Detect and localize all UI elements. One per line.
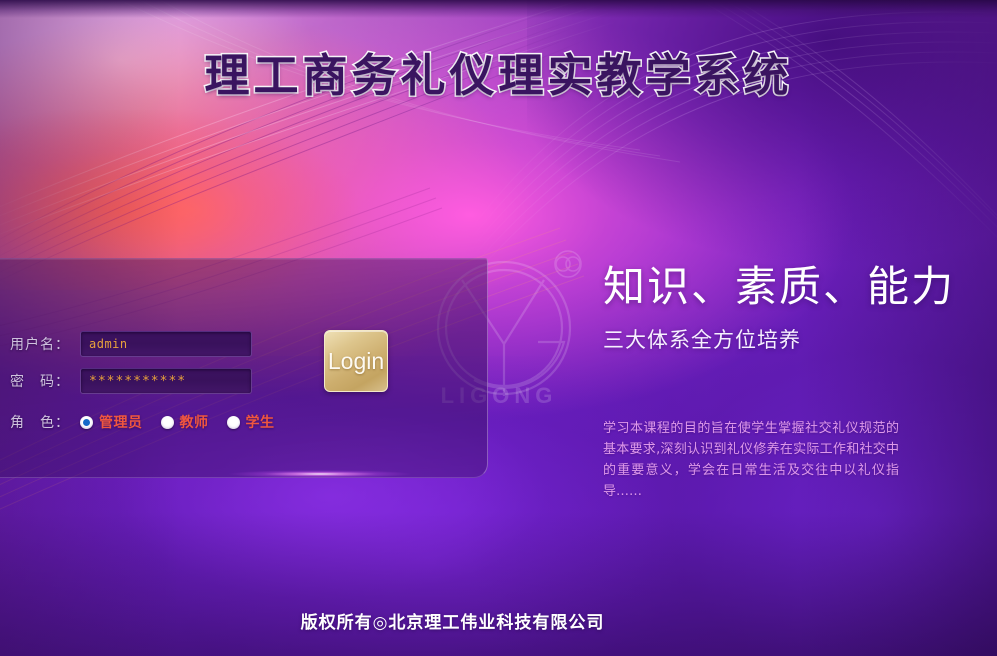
- promo-description: 学习本课程的目的旨在使学生掌握社交礼仪规范的基本要求,深刻认识到礼仪修养在实际工…: [603, 418, 899, 502]
- username-row: 用户名：: [0, 331, 252, 357]
- password-input[interactable]: [80, 368, 252, 394]
- promo-headline: 知识、素质、能力: [603, 253, 955, 314]
- radio-selected-icon[interactable]: [80, 416, 93, 429]
- password-row: 密 码：: [0, 368, 252, 394]
- login-page: LIGONG 理工商务礼仪理实教学系统 用户名： 密 码： 角 色： 管理员 教…: [0, 0, 997, 656]
- page-title: 理工商务礼仪理实教学系统: [0, 39, 997, 104]
- password-label: 密 码：: [0, 371, 70, 391]
- role-option-teacher[interactable]: 教师: [161, 412, 209, 432]
- role-radio-group: 管理员 教师 学生: [80, 412, 293, 432]
- promo-subhead: 三大体系全方位培养: [603, 324, 801, 354]
- role-row: 角 色： 管理员 教师 学生: [0, 412, 293, 432]
- radio-unselected-icon[interactable]: [227, 416, 240, 429]
- role-option-teacher-label: 教师: [180, 412, 209, 432]
- role-option-admin-label: 管理员: [99, 412, 143, 432]
- footer-copyright: 版权所有◎北京理工伟业科技有限公司: [0, 608, 905, 633]
- radio-unselected-icon[interactable]: [161, 416, 174, 429]
- role-option-admin[interactable]: 管理员: [80, 412, 143, 432]
- role-option-student[interactable]: 学生: [227, 412, 275, 432]
- login-button[interactable]: Login: [324, 330, 388, 392]
- role-label: 角 色：: [0, 412, 70, 432]
- role-option-student-label: 学生: [246, 412, 275, 432]
- username-input[interactable]: [80, 331, 252, 357]
- username-label: 用户名：: [0, 334, 70, 354]
